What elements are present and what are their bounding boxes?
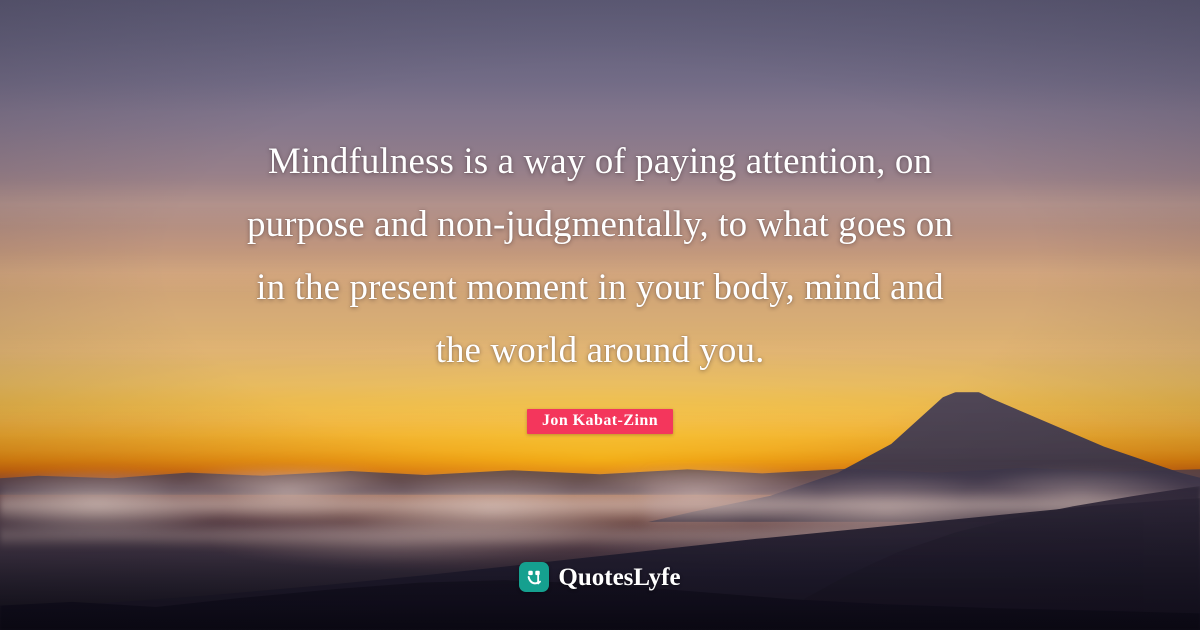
quote-card: Mindfulness is a way of paying attention…	[0, 0, 1200, 630]
quotation-mark-icon	[519, 562, 549, 592]
brand-name: QuotesLyfe	[558, 565, 680, 590]
author-attribution: Jon Kabat-Zinn	[0, 409, 1200, 434]
author-name-badge: Jon Kabat-Zinn	[527, 409, 673, 434]
card-content: Mindfulness is a way of paying attention…	[0, 0, 1200, 630]
brand-logo: QuotesLyfe	[0, 562, 1200, 592]
quote-block: Mindfulness is a way of paying attention…	[180, 130, 1020, 382]
quote-text: Mindfulness is a way of paying attention…	[180, 130, 1020, 382]
